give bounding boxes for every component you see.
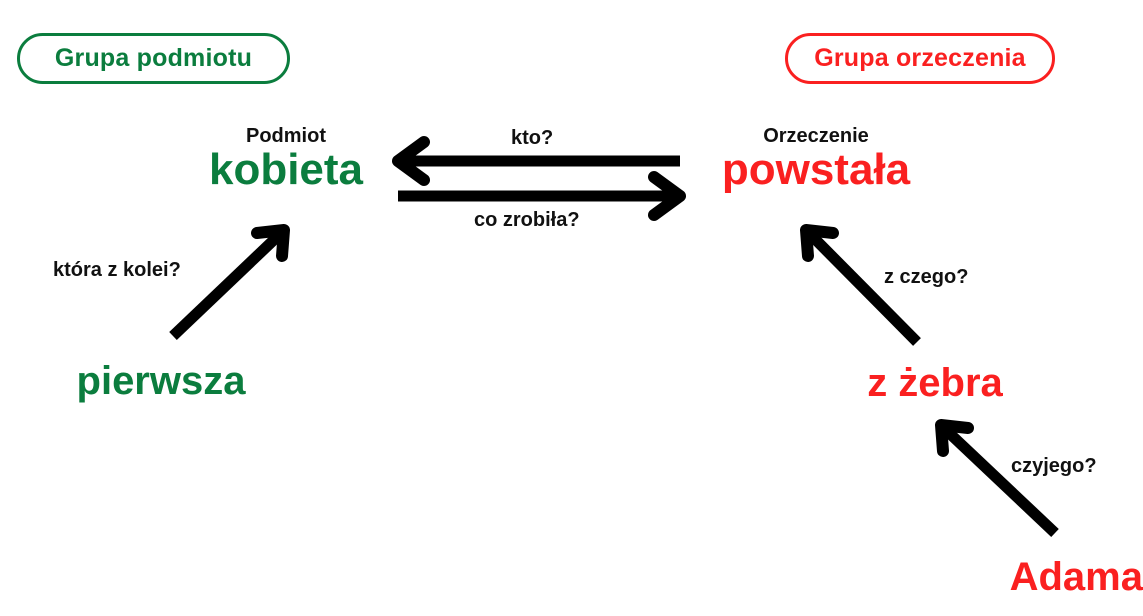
arrow-possessor-to-object (941, 425, 1055, 533)
node-predicate-word: powstała (700, 147, 932, 193)
node-attribute-word: pierwsza (52, 360, 270, 402)
question-label-kto: kto? (511, 127, 553, 150)
badge-subject-group[interactable]: Grupa podmiotu (17, 33, 290, 84)
badge-predicate-group-label: Grupa orzeczenia (814, 44, 1026, 73)
node-subject[interactable]: Podmiot kobieta (196, 126, 376, 193)
node-subject-role: Podmiot (196, 126, 376, 147)
question-label-co-zrobila: co zrobiła? (474, 209, 580, 232)
question-label-ktora-z-kolei: która z kolei? (53, 259, 181, 282)
question-label-czyjego: czyjego? (1011, 455, 1097, 478)
badge-subject-group-label: Grupa podmiotu (55, 44, 252, 73)
node-subject-word: kobieta (196, 147, 376, 193)
node-object-word: z żebra (855, 362, 1015, 404)
badge-predicate-group[interactable]: Grupa orzeczenia (785, 33, 1055, 84)
node-predicate-role: Orzeczenie (700, 126, 932, 147)
node-possessor[interactable]: Adama (985, 556, 1143, 598)
arrow-attribute-to-subject (173, 230, 284, 336)
node-possessor-word: Adama (985, 556, 1143, 598)
node-object[interactable]: z żebra (855, 362, 1015, 404)
node-predicate[interactable]: Orzeczenie powstała (700, 126, 932, 193)
node-attribute[interactable]: pierwsza (52, 360, 270, 402)
arrow-layer (0, 0, 1143, 616)
question-label-z-czego: z czego? (884, 266, 968, 289)
sentence-diagram: Grupa podmiotu Grupa orzeczenia Podmiot … (0, 0, 1143, 616)
